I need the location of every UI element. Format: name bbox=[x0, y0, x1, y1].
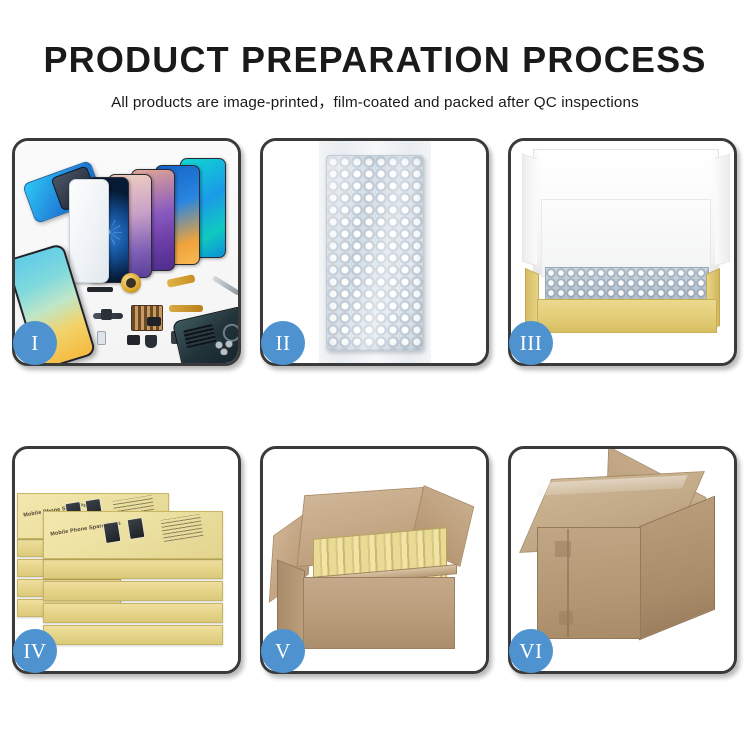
sealed-carton-tab-upper bbox=[555, 541, 571, 557]
part-connector-3-icon bbox=[127, 335, 140, 345]
part-screws-icon bbox=[215, 341, 237, 355]
part-connector-4-icon bbox=[147, 317, 161, 326]
sealed-carton-front-face bbox=[537, 527, 641, 639]
inner-box-cavity bbox=[541, 199, 711, 277]
phone-screen-fan bbox=[77, 153, 237, 271]
step-badge-4: IV bbox=[13, 629, 57, 673]
infographic-page: PRODUCT PREPARATION PROCESS All products… bbox=[0, 0, 750, 750]
box-print-phone-3-icon bbox=[102, 521, 121, 544]
step-badge-3: III bbox=[509, 321, 553, 365]
box-print-text-lines-2 bbox=[161, 514, 204, 542]
part-coil-icon bbox=[121, 273, 141, 293]
part-speaker-icon bbox=[145, 335, 157, 348]
box-print-phone-4-icon bbox=[126, 517, 145, 540]
page-title: PRODUCT PREPARATION PROCESS bbox=[0, 42, 750, 78]
retail-box-right-1-top: Mobile Phone Spare Parts bbox=[44, 512, 222, 558]
page-subtitle: All products are image-printed，film-coat… bbox=[0, 90, 750, 112]
step-panel-2: II bbox=[260, 138, 489, 366]
retail-box-right-5 bbox=[43, 625, 223, 645]
retail-box-right-4 bbox=[43, 603, 223, 623]
sealed-carton-tab-lower bbox=[559, 611, 573, 625]
inner-box-bubble-contents bbox=[545, 267, 709, 301]
retail-box-right-1: Mobile Phone Spare Parts bbox=[43, 511, 223, 559]
part-connector-1-icon bbox=[101, 309, 112, 320]
step-panel-4: Mobile Phone Spare Parts Mobile Phone bbox=[12, 446, 241, 674]
header: PRODUCT PREPARATION PROCESS All products… bbox=[0, 0, 750, 112]
step-panel-3: III bbox=[508, 138, 737, 366]
step-badge-5: V bbox=[261, 629, 305, 673]
carton-front-face bbox=[303, 577, 455, 649]
part-tweezers-icon bbox=[212, 275, 238, 295]
process-steps-grid: I II III bbox=[12, 138, 738, 674]
step-panel-6: VI bbox=[508, 446, 737, 674]
step-badge-6: VI bbox=[509, 629, 553, 673]
part-flex-cable-b-icon bbox=[169, 305, 203, 312]
step-badge-1: I bbox=[13, 321, 57, 365]
step-panel-5: V bbox=[260, 446, 489, 674]
part-strip-icon bbox=[87, 287, 113, 292]
inner-box-front-panel bbox=[537, 299, 717, 333]
retail-box-right-2 bbox=[43, 559, 223, 579]
bubble-wrapped-product bbox=[326, 155, 424, 351]
part-connector-2-icon bbox=[97, 331, 106, 345]
retail-box-right-3 bbox=[43, 581, 223, 601]
step-panel-1: I bbox=[12, 138, 241, 366]
spare-parts-group bbox=[85, 269, 238, 363]
part-flex-cable-a-icon bbox=[166, 274, 195, 288]
phone-screen-glass-blank bbox=[69, 179, 109, 283]
step-badge-2: II bbox=[261, 321, 305, 365]
